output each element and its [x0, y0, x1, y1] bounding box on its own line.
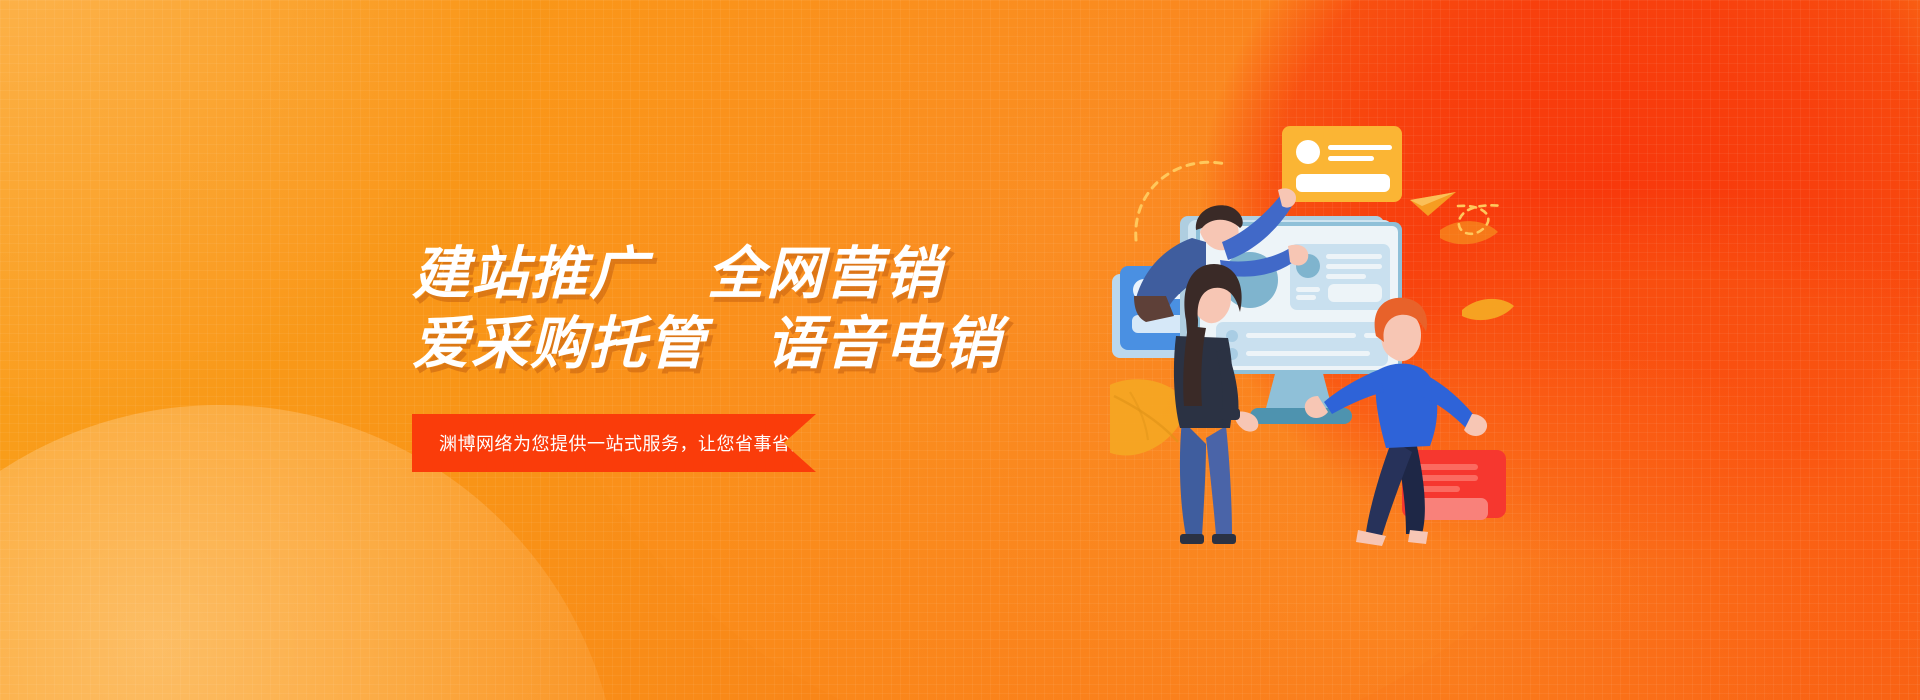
yellow-profile-card: [1282, 126, 1402, 202]
tagline-text: 渊博网络为您提供一站式服务，让您省事省力更省心: [412, 430, 865, 456]
headline-line-1: 建站推广 全网营销: [412, 240, 1052, 310]
leaf-right-icon: [1462, 299, 1514, 320]
headline-line-2: 爱采购托管 语音电销: [412, 310, 1052, 380]
paper-plane-icon: [1410, 192, 1456, 216]
promo-banner: 建站推广 全网营销 爱采购托管 语音电销 渊博网络为您提供一站式服务，让您省事省…: [0, 0, 1920, 700]
headline-block: 建站推广 全网营销 爱采购托管 语音电销: [412, 240, 1052, 379]
tagline-ribbon: 渊博网络为您提供一站式服务，让您省事省力更省心: [412, 414, 816, 472]
hero-illustration: [1110, 120, 1530, 580]
